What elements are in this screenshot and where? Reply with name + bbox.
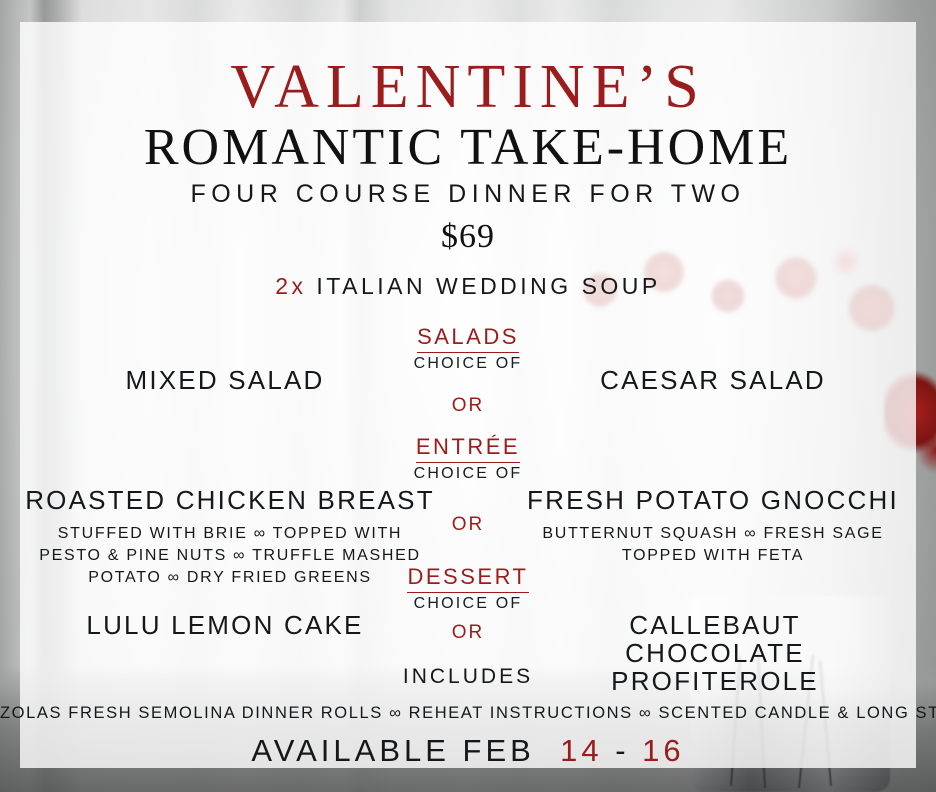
salad-option-left[interactable]: MIXED SALAD xyxy=(60,366,390,394)
menu-content: VALENTINE’S ROMANTIC TAKE-HOME FOUR COUR… xyxy=(0,0,936,792)
salad-option-right[interactable]: CAESAR SALAD xyxy=(548,366,878,394)
soup-name-spacer xyxy=(307,273,317,299)
page-subtitle: FOUR COURSE DINNER FOR TWO xyxy=(0,182,936,207)
availability-end-date: 16 xyxy=(642,733,684,768)
dessert-option-left[interactable]: LULU LEMON CAKE xyxy=(60,611,390,639)
availability-prefix: AVAILABLE FEB xyxy=(251,733,534,768)
soup-quantity: 2x xyxy=(275,273,306,299)
salad-option-right-title: CAESAR SALAD xyxy=(548,366,878,394)
course-choice-label-entree: CHOICE OF xyxy=(0,466,936,482)
course-heading-dessert: DESSERT xyxy=(0,566,936,588)
page-title-valentines: VALENTINE’S xyxy=(0,56,936,118)
price-label: $69 xyxy=(0,220,936,254)
course-or-label-salads: OR xyxy=(0,396,936,415)
course-heading-salads: SALADS xyxy=(0,326,936,348)
entree-option-right-description: BUTTERNUT SQUASH ∞ FRESH SAGE TOPPED WIT… xyxy=(514,523,912,567)
course-heading-entree-text: ENTRÉE xyxy=(416,434,520,463)
soup-course-item: 2x ITALIAN WEDDING SOUP xyxy=(0,275,936,298)
availability-separator: - xyxy=(615,733,629,768)
availability-line: AVAILABLE FEB 14 - 16 xyxy=(0,735,936,766)
entree-option-right[interactable]: FRESH POTATO GNOCCHI BUTTERNUT SQUASH ∞ … xyxy=(514,486,912,567)
salad-option-left-title: MIXED SALAD xyxy=(60,366,390,394)
page-title-romantic-take-home: ROMANTIC TAKE-HOME xyxy=(0,122,936,174)
course-heading-salads-text: SALADS xyxy=(417,324,519,353)
dessert-option-left-title: LULU LEMON CAKE xyxy=(60,611,390,639)
includes-label: INCLUDES xyxy=(0,666,936,687)
availability-start-date: 14 xyxy=(560,733,602,768)
valentines-menu-poster: VALENTINE’S ROMANTIC TAKE-HOME FOUR COUR… xyxy=(0,0,936,792)
entree-option-right-title: FRESH POTATO GNOCCHI xyxy=(514,486,912,514)
soup-name: ITALIAN WEDDING SOUP xyxy=(316,273,660,299)
entree-option-left-title: ROASTED CHICKEN BREAST xyxy=(24,486,436,514)
availability-spacer-1 xyxy=(547,733,560,768)
course-heading-dessert-text: DESSERT xyxy=(407,564,528,593)
includes-items: ZOLAS FRESH SEMOLINA DINNER ROLLS ∞ REHE… xyxy=(0,705,936,722)
course-heading-entree: ENTRÉE xyxy=(0,436,936,458)
